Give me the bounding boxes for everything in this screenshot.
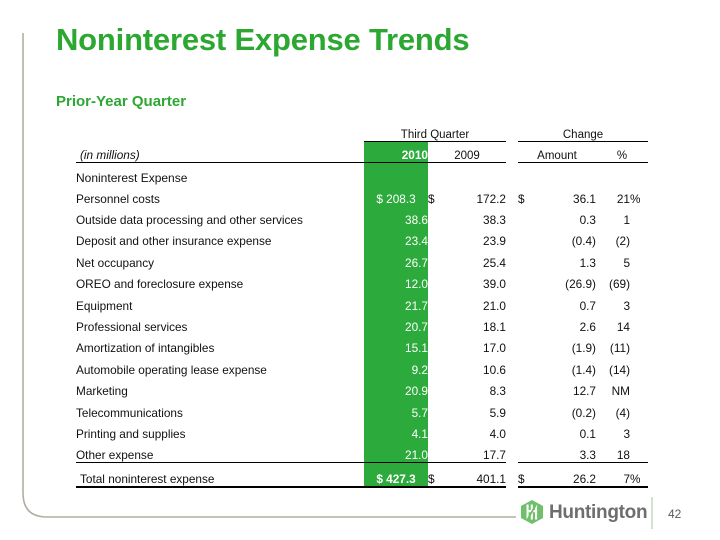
- row-amount-value: 2.6: [540, 312, 596, 333]
- row-gap: [506, 377, 518, 398]
- section-header-empty-6: [630, 163, 648, 185]
- row-amount-dollar-sign: [518, 377, 540, 398]
- row-amount-value: 0.1: [540, 419, 596, 440]
- group-header-third-quarter: Third Quarter: [364, 124, 506, 142]
- total-percent-symbol: %: [630, 463, 648, 488]
- row-label: Printing and supplies: [76, 419, 364, 440]
- row-prior-dollar-sign: [428, 205, 450, 226]
- section-header-empty-2: [450, 163, 506, 185]
- row-amount-value: 3.3: [540, 441, 596, 463]
- noninterest-expense-table: Third Quarter Change (in millions) 2010 …: [76, 124, 648, 488]
- row-label: Telecommunications: [76, 398, 364, 419]
- row-amount-dollar-sign: [518, 291, 540, 312]
- table-row: Deposit and other insurance expense23.42…: [76, 227, 648, 248]
- row-current-value: 5.7: [364, 398, 428, 419]
- row-amount-value: (26.9): [540, 270, 596, 291]
- total-prior-value: 401.1: [450, 463, 506, 488]
- table-row: Other expense21.017.73.318: [76, 441, 648, 463]
- row-prior-value: 25.4: [450, 248, 506, 269]
- row-amount-dollar-sign: [518, 334, 540, 355]
- row-current-value: 23.4: [364, 227, 428, 248]
- column-header-2010: 2010: [364, 142, 428, 163]
- group-header-gap: [506, 124, 518, 142]
- total-current-value: $ 427.3: [364, 463, 428, 488]
- row-amount-value: (1.9): [540, 334, 596, 355]
- row-prior-dollar-sign: [428, 248, 450, 269]
- page-number-separator: [651, 497, 653, 529]
- row-label: Marketing: [76, 377, 364, 398]
- table-row: Printing and supplies4.14.00.13: [76, 419, 648, 440]
- total-amount-dollar-sign: $: [518, 463, 540, 488]
- huntington-logo-icon: [521, 500, 543, 524]
- row-percent-symbol: [630, 441, 648, 463]
- row-label: Outside data processing and other servic…: [76, 205, 364, 226]
- row-current-value: 20.7: [364, 312, 428, 333]
- row-prior-dollar-sign: [428, 441, 450, 463]
- row-label: Net occupancy: [76, 248, 364, 269]
- section-header-label: Noninterest Expense: [76, 163, 364, 185]
- row-label: Professional services: [76, 312, 364, 333]
- row-percent-value: (69): [596, 270, 630, 291]
- row-prior-value: 172.2: [450, 184, 506, 205]
- table-row: Marketing20.98.312.7NM: [76, 377, 648, 398]
- row-percent-symbol: [630, 398, 648, 419]
- table-row: Professional services20.718.12.614: [76, 312, 648, 333]
- row-prior-value: 4.0: [450, 419, 506, 440]
- row-amount-value: (0.2): [540, 398, 596, 419]
- row-percent-symbol: [630, 291, 648, 312]
- table-row: Equipment21.721.00.73: [76, 291, 648, 312]
- table-sub-header-row: (in millions) 2010 2009 Amount %: [76, 142, 648, 163]
- total-label: Total noninterest expense: [76, 463, 364, 488]
- row-prior-value: 23.9: [450, 227, 506, 248]
- row-amount-dollar-sign: [518, 270, 540, 291]
- row-percent-symbol: [630, 227, 648, 248]
- section-header-gap: [506, 163, 518, 185]
- row-percent-symbol: [630, 377, 648, 398]
- brand-logo: Huntington: [521, 500, 647, 524]
- row-percent-value: 21: [596, 184, 630, 205]
- row-percent-symbol: [630, 205, 648, 226]
- row-amount-dollar-sign: [518, 205, 540, 226]
- row-label: Amortization of intangibles: [76, 334, 364, 355]
- row-label: Other expense: [76, 441, 364, 463]
- row-prior-dollar-sign: [428, 291, 450, 312]
- row-amount-dollar-sign: [518, 355, 540, 376]
- row-current-value: 21.0: [364, 441, 428, 463]
- table-row: Net occupancy26.725.41.35: [76, 248, 648, 269]
- row-amount-dollar-sign: [518, 419, 540, 440]
- row-gap: [506, 205, 518, 226]
- row-amount-value: 12.7: [540, 377, 596, 398]
- row-current-value: 38.6: [364, 205, 428, 226]
- row-percent-value: 5: [596, 248, 630, 269]
- section-header-empty-1: [428, 163, 450, 185]
- group-header-change: Change: [518, 124, 648, 142]
- row-prior-dollar-sign: [428, 270, 450, 291]
- row-label: Automobile operating lease expense: [76, 355, 364, 376]
- row-amount-dollar-sign: [518, 398, 540, 419]
- row-percent-value: (2): [596, 227, 630, 248]
- row-amount-value: (1.4): [540, 355, 596, 376]
- page-title: Noninterest Expense Trends: [56, 22, 469, 58]
- table-section-header-row: Noninterest Expense: [76, 163, 648, 185]
- row-percent-symbol: [630, 270, 648, 291]
- row-percent-symbol: [630, 248, 648, 269]
- page-subtitle: Prior-Year Quarter: [56, 93, 186, 110]
- row-amount-dollar-sign: $: [518, 184, 540, 205]
- row-percent-symbol: [630, 334, 648, 355]
- row-percent-value: 14: [596, 312, 630, 333]
- table-row: Amortization of intangibles15.117.0(1.9)…: [76, 334, 648, 355]
- row-percent-symbol: %: [630, 184, 648, 205]
- section-header-empty-3: [518, 163, 540, 185]
- row-gap: [506, 184, 518, 205]
- row-amount-value: 36.1: [540, 184, 596, 205]
- row-percent-value: 3: [596, 291, 630, 312]
- total-gap: [506, 463, 518, 488]
- section-header-empty-5: [596, 163, 630, 185]
- table-row: Automobile operating lease expense9.210.…: [76, 355, 648, 376]
- row-gap: [506, 312, 518, 333]
- row-gap: [506, 398, 518, 419]
- row-percent-symbol: [630, 419, 648, 440]
- row-prior-dollar-sign: [428, 419, 450, 440]
- row-prior-dollar-sign: [428, 377, 450, 398]
- page-number: 42: [668, 507, 681, 521]
- row-prior-dollar-sign: [428, 355, 450, 376]
- row-amount-dollar-sign: [518, 312, 540, 333]
- row-percent-symbol: [630, 355, 648, 376]
- row-current-value: 12.0: [364, 270, 428, 291]
- row-gap: [506, 270, 518, 291]
- row-prior-value: 8.3: [450, 377, 506, 398]
- row-prior-dollar-sign: $: [428, 184, 450, 205]
- row-prior-value: 17.0: [450, 334, 506, 355]
- total-percent-value: 7: [596, 463, 630, 488]
- row-current-value: 26.7: [364, 248, 428, 269]
- row-percent-value: (4): [596, 398, 630, 419]
- row-current-value: 4.1: [364, 419, 428, 440]
- row-percent-value: (11): [596, 334, 630, 355]
- row-amount-value: 1.3: [540, 248, 596, 269]
- brand-wordmark: Huntington: [549, 503, 647, 522]
- noninterest-expense-table-wrapper: Third Quarter Change (in millions) 2010 …: [76, 124, 648, 488]
- column-header-percent: %: [596, 142, 648, 163]
- row-amount-value: 0.7: [540, 291, 596, 312]
- row-percent-value: 3: [596, 419, 630, 440]
- row-amount-value: 0.3: [540, 205, 596, 226]
- row-gap: [506, 334, 518, 355]
- row-label: OREO and foreclosure expense: [76, 270, 364, 291]
- row-prior-value: 38.3: [450, 205, 506, 226]
- table-row: OREO and foreclosure expense12.039.0(26.…: [76, 270, 648, 291]
- row-prior-dollar-sign: [428, 227, 450, 248]
- row-gap: [506, 227, 518, 248]
- row-label: Equipment: [76, 291, 364, 312]
- row-prior-dollar-sign: [428, 334, 450, 355]
- row-percent-value: 18: [596, 441, 630, 463]
- table-row: Personnel costs$ 208.3$172.2$36.121%: [76, 184, 648, 205]
- row-percent-value: (14): [596, 355, 630, 376]
- row-label: Personnel costs: [76, 184, 364, 205]
- column-header-2009: 2009: [428, 142, 506, 163]
- row-percent-value: 1: [596, 205, 630, 226]
- row-gap: [506, 441, 518, 463]
- total-prior-dollar-sign: $: [428, 463, 450, 488]
- row-label: Deposit and other insurance expense: [76, 227, 364, 248]
- row-amount-dollar-sign: [518, 248, 540, 269]
- section-header-green-cell: [364, 163, 428, 185]
- table-group-header-row: Third Quarter Change: [76, 124, 648, 142]
- row-percent-symbol: [630, 312, 648, 333]
- row-current-value: $ 208.3: [364, 184, 428, 205]
- row-prior-value: 39.0: [450, 270, 506, 291]
- row-prior-value: 21.0: [450, 291, 506, 312]
- row-current-value: 9.2: [364, 355, 428, 376]
- row-current-value: 21.7: [364, 291, 428, 312]
- sub-header-gap: [506, 142, 518, 163]
- table-row: Outside data processing and other servic…: [76, 205, 648, 226]
- row-prior-dollar-sign: [428, 398, 450, 419]
- row-gap: [506, 248, 518, 269]
- row-prior-value: 10.6: [450, 355, 506, 376]
- row-amount-dollar-sign: [518, 227, 540, 248]
- units-label: (in millions): [76, 142, 364, 163]
- row-amount-dollar-sign: [518, 441, 540, 463]
- row-gap: [506, 419, 518, 440]
- row-prior-dollar-sign: [428, 312, 450, 333]
- row-prior-value: 5.9: [450, 398, 506, 419]
- total-amount-value: 26.2: [540, 463, 596, 488]
- column-header-amount: Amount: [518, 142, 596, 163]
- table-total-row: Total noninterest expense $ 427.3 $ 401.…: [76, 463, 648, 488]
- row-prior-value: 17.7: [450, 441, 506, 463]
- row-amount-value: (0.4): [540, 227, 596, 248]
- row-percent-value: NM: [596, 377, 630, 398]
- row-gap: [506, 355, 518, 376]
- group-header-spacer: [76, 124, 364, 142]
- row-gap: [506, 291, 518, 312]
- row-prior-value: 18.1: [450, 312, 506, 333]
- table-row: Telecommunications5.75.9(0.2)(4): [76, 398, 648, 419]
- section-header-empty-4: [540, 163, 596, 185]
- row-current-value: 15.1: [364, 334, 428, 355]
- row-current-value: 20.9: [364, 377, 428, 398]
